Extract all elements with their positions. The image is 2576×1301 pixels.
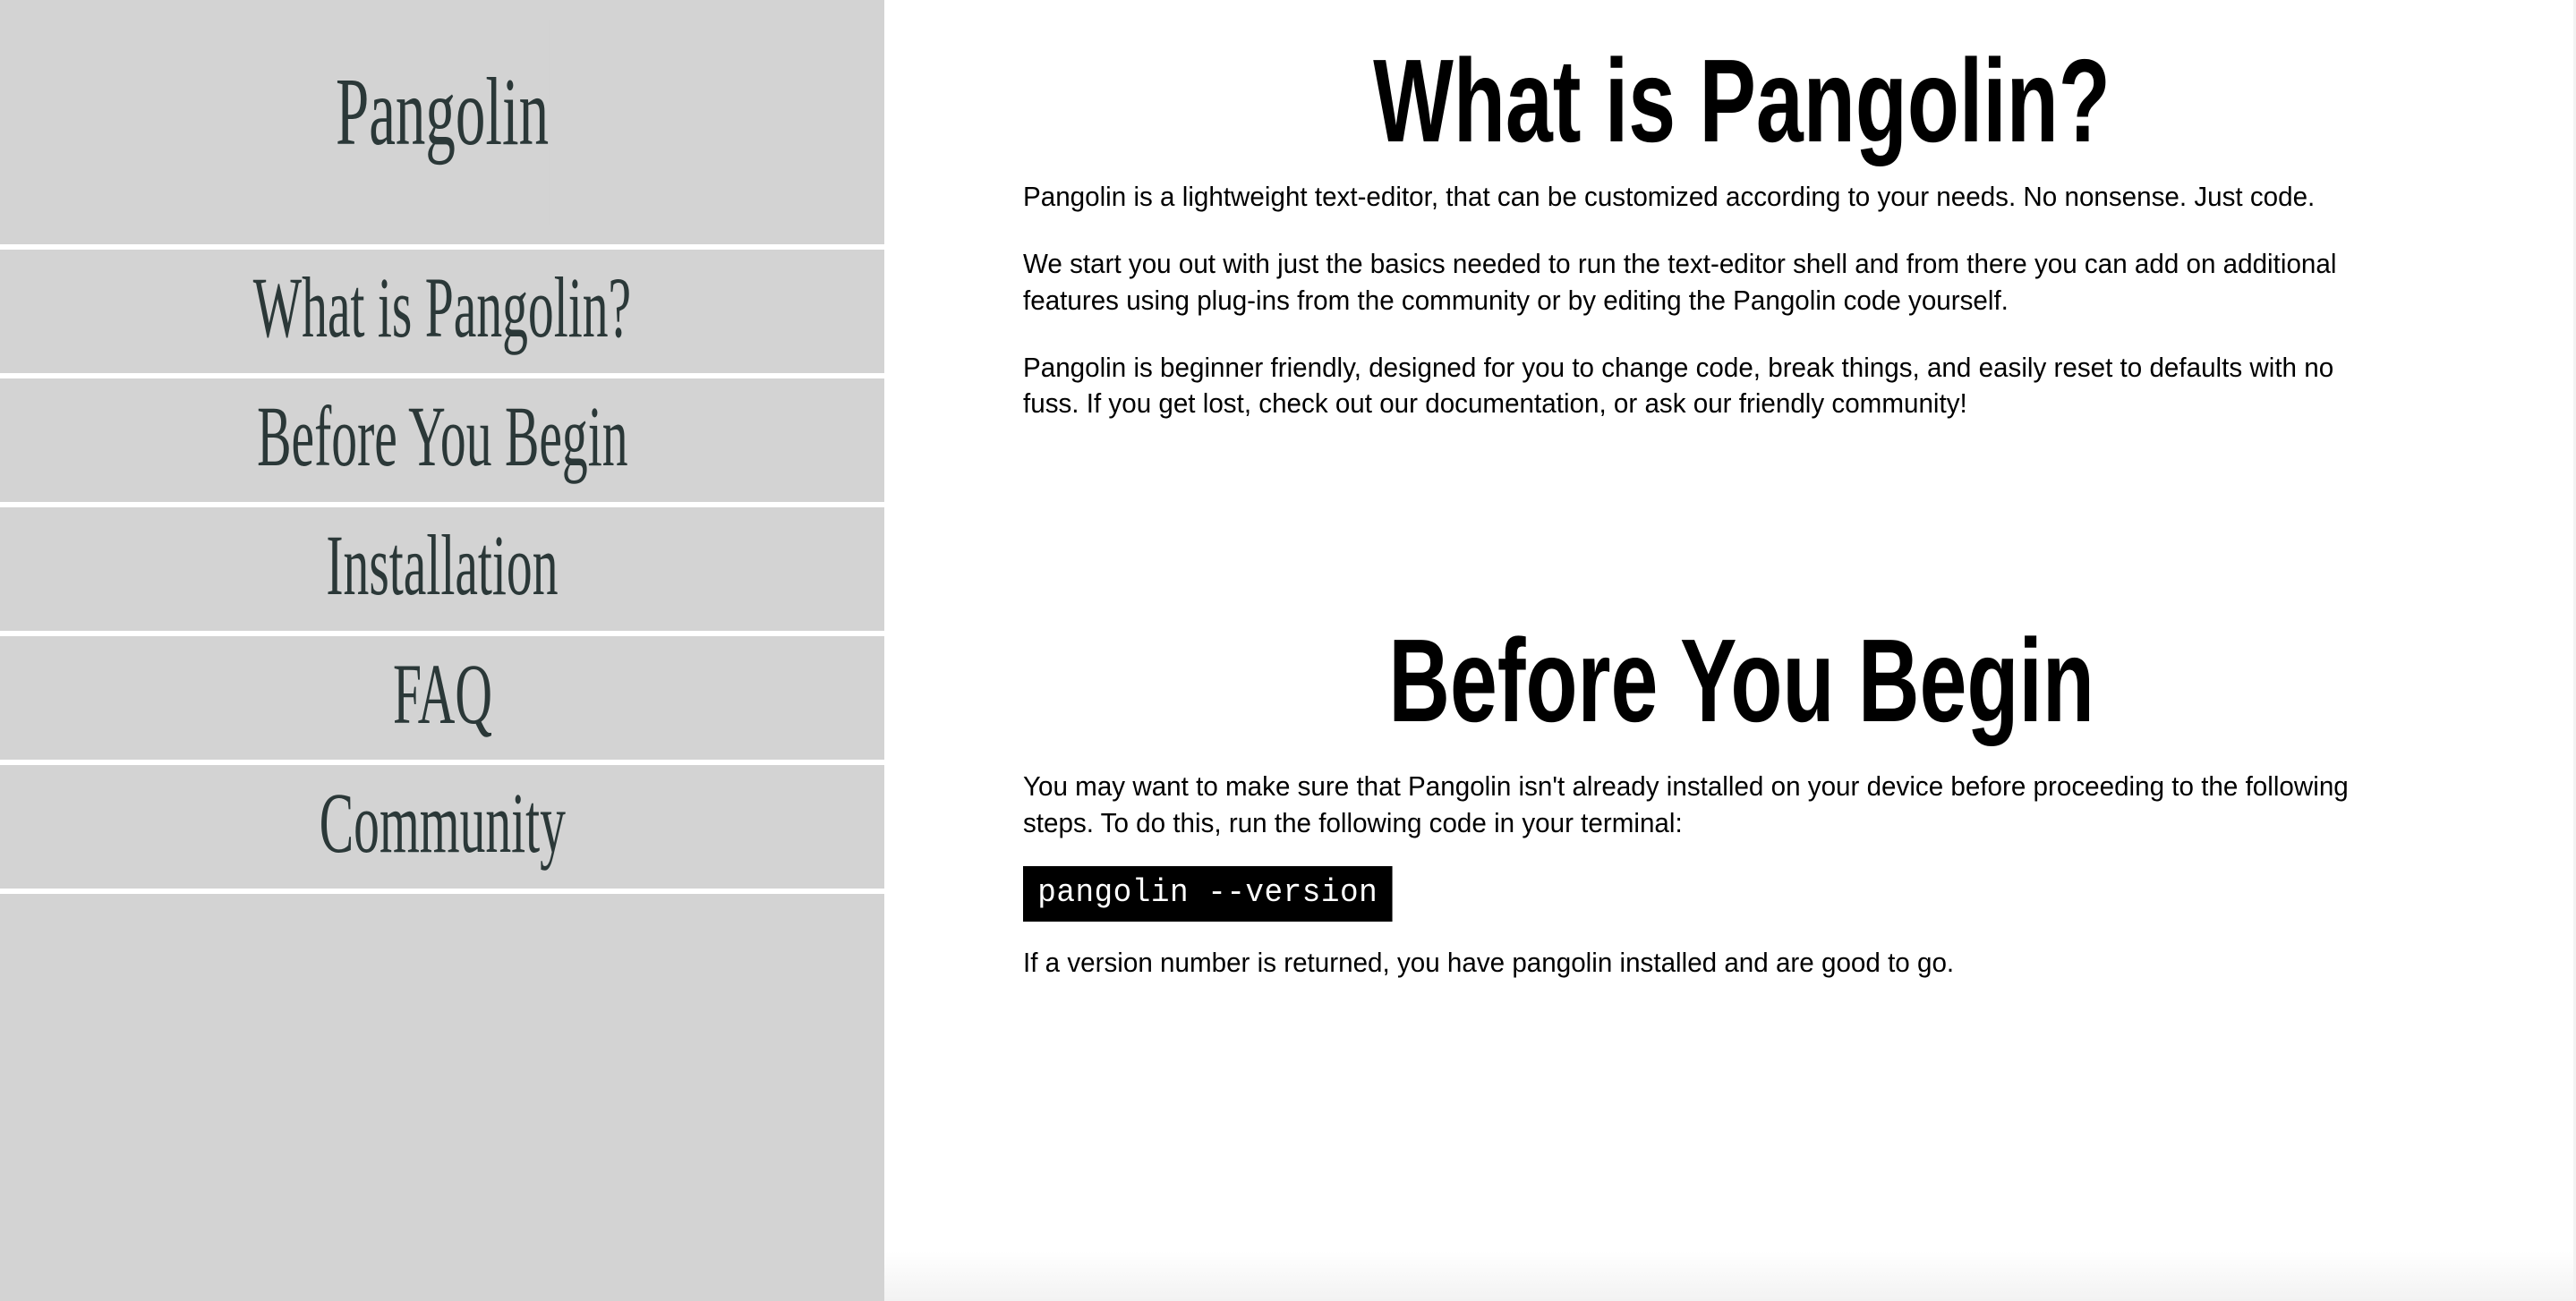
section-spacer <box>1023 421 2460 593</box>
terminal-command-code-block: pangolin --version <box>1023 866 1392 922</box>
section-title: Before You Begin <box>1388 619 2094 744</box>
section-body: You may want to make sure that Pangolin … <box>1023 769 2395 981</box>
documentation-page: Pangolin What is Pangolin? Before You Be… <box>0 0 2576 1301</box>
section-before-you-begin: Before You Begin You may want to make su… <box>1023 593 2460 981</box>
sidebar-item-faq[interactable]: FAQ <box>0 636 884 760</box>
paragraph: You may want to make sure that Pangolin … <box>1023 769 2395 841</box>
section-heading-container: Before You Begin <box>1023 593 2460 769</box>
sidebar-title-container: Pangolin <box>0 0 884 244</box>
section-heading-container: What is Pangolin? <box>1023 0 2460 179</box>
sidebar-empty-area <box>0 894 884 1301</box>
sidebar-item-label: What is Pangolin? <box>253 265 631 358</box>
main-content: What is Pangolin? Pangolin is a lightwei… <box>884 0 2576 1301</box>
paragraph: We start you out with just the basics ne… <box>1023 246 2395 319</box>
section-body: Pangolin is a lightweight text-editor, t… <box>1023 179 2395 421</box>
sidebar-item-installation[interactable]: Installation <box>0 507 884 631</box>
sidebar-item-label: Community <box>319 780 565 873</box>
sidebar-item-label: Installation <box>326 523 558 616</box>
paragraph: If a version number is returned, you hav… <box>1023 945 2395 981</box>
page-title: What is Pangolin? <box>1373 39 2111 164</box>
sidebar-navigation: Pangolin What is Pangolin? Before You Be… <box>0 0 884 1301</box>
sidebar-item-before-you-begin[interactable]: Before You Begin <box>0 378 884 502</box>
paragraph: Pangolin is a lightweight text-editor, t… <box>1023 179 2395 215</box>
sidebar-item-label: Before You Begin <box>257 394 627 487</box>
sidebar-item-what-is-pangolin[interactable]: What is Pangolin? <box>0 250 884 373</box>
site-title: Pangolin <box>336 20 549 225</box>
paragraph: Pangolin is beginner friendly, designed … <box>1023 350 2395 422</box>
sidebar-item-label: FAQ <box>393 651 492 744</box>
section-what-is-pangolin: What is Pangolin? Pangolin is a lightwei… <box>1023 0 2460 421</box>
sidebar-item-community[interactable]: Community <box>0 765 884 889</box>
